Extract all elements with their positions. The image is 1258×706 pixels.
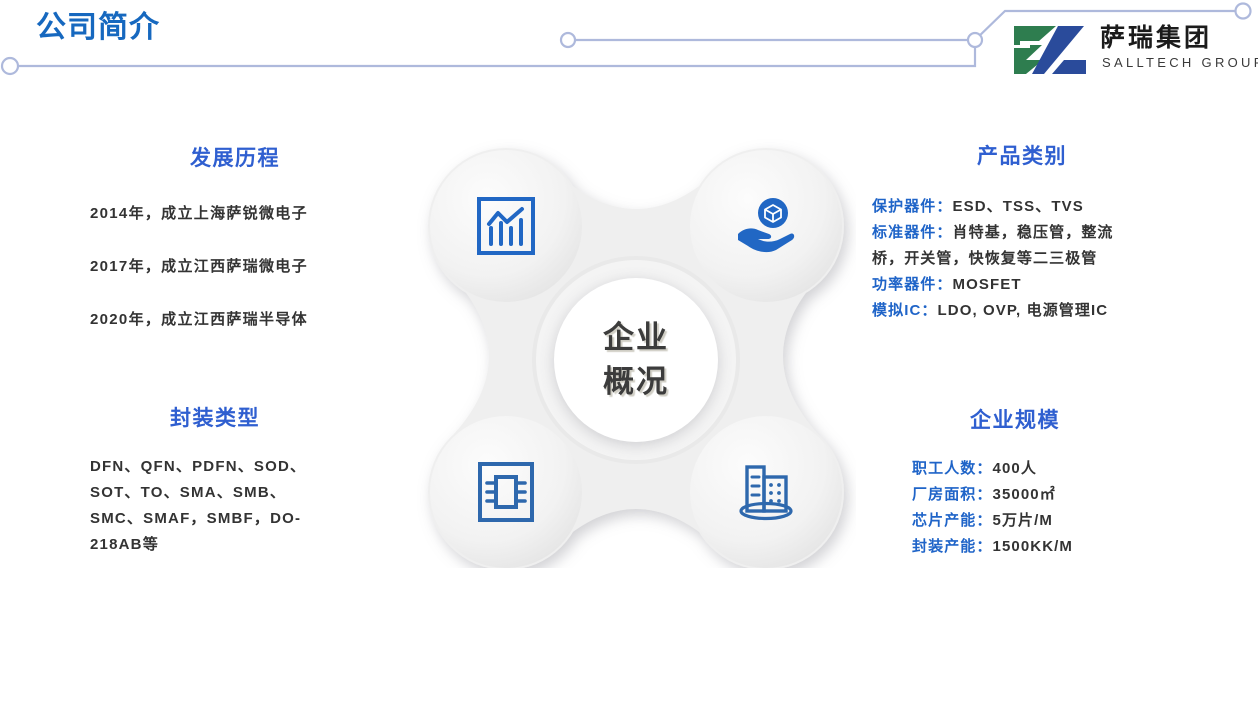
history-line: 2020年，成立江西萨瑞半导体: [90, 310, 390, 330]
buildings-icon: [734, 460, 798, 524]
product-value: LDO, OVP, 电源管理IC: [938, 302, 1109, 319]
scale-row: 芯片产能：5万片/M: [912, 508, 1200, 534]
product-value: 桥，开关管，快恢复等二三极管: [872, 250, 1097, 267]
slide-header: 公司简介 萨瑞集团 SALLTECH GROUP: [0, 0, 1258, 95]
scale-key: 封装产能：: [912, 538, 993, 555]
panel-body-development-history: 2014年，成立上海萨锐微电子 2017年，成立江西萨瑞微电子 2020年，成立…: [90, 204, 390, 330]
panel-body-package-types: DFN、QFN、PDFN、SOD、 SOT、TO、SMA、SMB、 SMC、SM…: [90, 454, 338, 558]
product-key: 模拟IC：: [872, 302, 938, 319]
company-logo: 萨瑞集团 SALLTECH GROUP: [1012, 22, 1246, 80]
scale-value: 1500KK/M: [993, 538, 1074, 555]
panel-package-types: 封装类型 DFN、QFN、PDFN、SOD、 SOT、TO、SMA、SMB、 S…: [90, 402, 390, 558]
scale-row: 职工人数：400人: [912, 456, 1200, 482]
scale-row: 封装产能：1500KK/M: [912, 534, 1200, 560]
panel-company-scale: 企业规模 职工人数：400人 厂房面积：35000㎡ 芯片产能：5万片/M 封装…: [900, 404, 1200, 560]
panel-title-development-history: 发展历程: [90, 142, 380, 172]
history-line: 2014年，成立上海萨锐微电子: [90, 204, 390, 224]
panel-body-company-scale: 职工人数：400人 厂房面积：35000㎡ 芯片产能：5万片/M 封装产能：15…: [900, 456, 1200, 560]
scale-row: 厂房面积：35000㎡: [912, 482, 1200, 508]
scale-key: 职工人数：: [912, 460, 993, 477]
panel-title-product-categories: 产品类别: [872, 140, 1172, 170]
product-row: 功率器件：MOSFET: [872, 272, 1202, 298]
center-label-line1: 企业: [603, 316, 669, 360]
package-line: SMC、SMAF，SMBF，DO-: [90, 506, 338, 532]
node-product-delivery[interactable]: [690, 150, 842, 302]
history-line: 2017年，成立江西萨瑞微电子: [90, 257, 390, 277]
product-value: ESD、TSS、TVS: [953, 198, 1084, 215]
panel-body-product-categories: 保护器件：ESD、TSS、TVS 标准器件：肖特基，稳压管，整流 桥，开关管，快…: [872, 194, 1202, 324]
logo-mark-icon: [1012, 24, 1090, 76]
scale-value: 400人: [993, 460, 1037, 477]
panel-title-company-scale: 企业规模: [900, 404, 1130, 434]
node-microchip[interactable]: [430, 416, 582, 568]
panel-product-categories: 产品类别 保护器件：ESD、TSS、TVS 标准器件：肖特基，稳压管，整流 桥，…: [872, 140, 1202, 324]
product-row: 保护器件：ESD、TSS、TVS: [872, 194, 1202, 220]
product-key: 保护器件：: [872, 198, 953, 215]
product-row: 标准器件：肖特基，稳压管，整流: [872, 220, 1202, 246]
product-key: 标准器件：: [872, 224, 953, 241]
logo-name-en: SALLTECH GROUP: [1102, 55, 1258, 71]
center-label-line2: 概况: [603, 360, 669, 404]
center-label: 企业 概况: [603, 316, 669, 404]
package-line: 218AB等: [90, 532, 338, 558]
scale-value: 5万片/M: [993, 512, 1054, 529]
product-row: 桥，开关管，快恢复等二三极管: [872, 246, 1202, 272]
product-value: 肖特基，稳压管，整流: [953, 224, 1114, 241]
page-title: 公司简介: [36, 8, 160, 48]
node-buildings[interactable]: [690, 416, 842, 568]
hand-holding-box-icon: [734, 194, 798, 258]
product-value: MOSFET: [953, 276, 1022, 293]
slide-root: 公司简介 萨瑞集团 SALLTECH GROUP 发展历程 2014年，成立上海…: [0, 0, 1258, 706]
package-line: SOT、TO、SMA、SMB、: [90, 480, 338, 506]
logo-name-cn: 萨瑞集团: [1100, 22, 1212, 54]
product-key: 功率器件：: [872, 276, 953, 293]
panel-title-package-types: 封装类型: [90, 402, 340, 432]
package-line: DFN、QFN、PDFN、SOD、: [90, 454, 338, 480]
product-row: 模拟IC：LDO, OVP, 电源管理IC: [872, 298, 1202, 324]
scale-value: 35000㎡: [993, 486, 1056, 503]
microchip-icon: [474, 460, 538, 524]
panel-development-history: 发展历程 2014年，成立上海萨锐微电子 2017年，成立江西萨瑞微电子 202…: [90, 142, 390, 363]
growth-chart-icon: [474, 194, 538, 258]
scale-key: 芯片产能：: [912, 512, 993, 529]
center-node: 企业 概况: [554, 278, 718, 442]
scale-key: 厂房面积：: [912, 486, 993, 503]
node-growth-chart[interactable]: [430, 150, 582, 302]
center-graphic: 企业 概况: [408, 128, 856, 568]
